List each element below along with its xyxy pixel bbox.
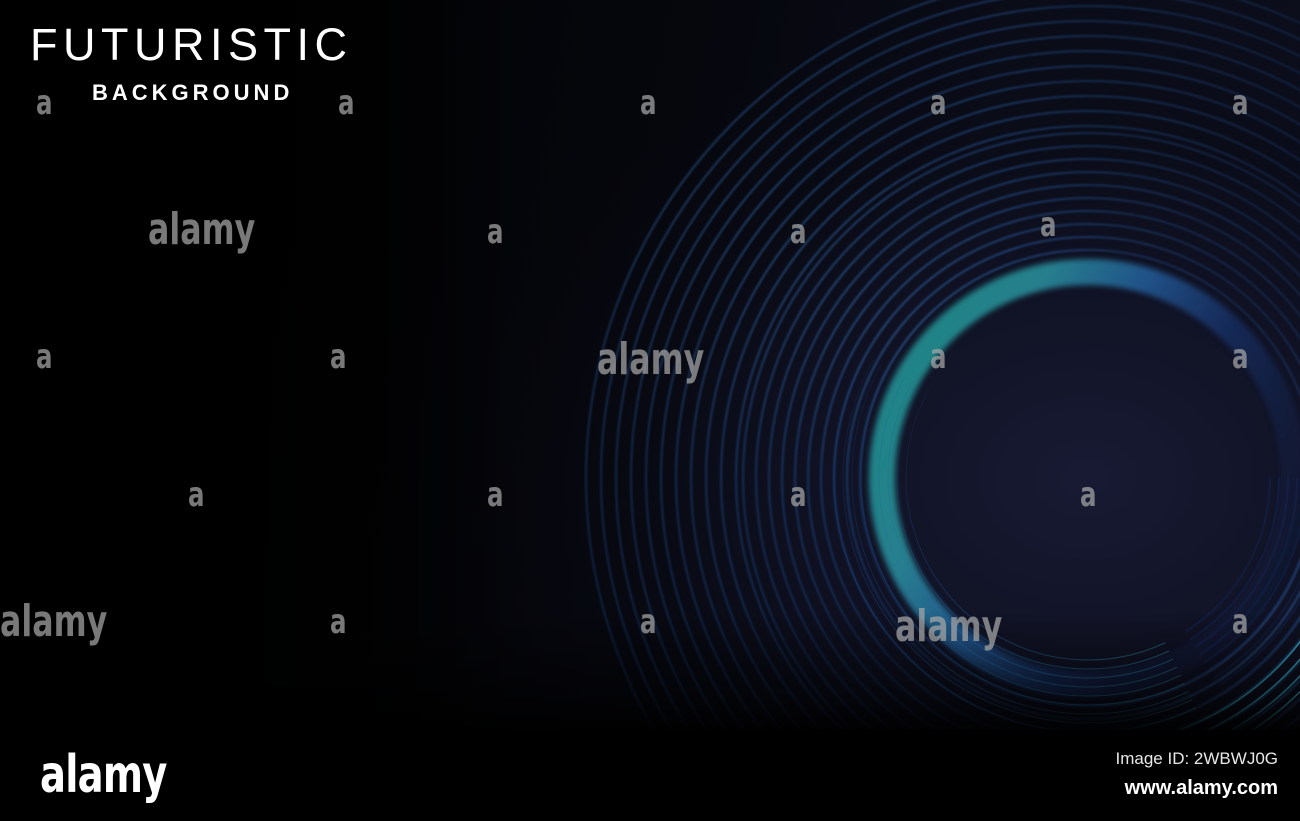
ring-arc [646,36,1300,730]
alamy-url: www.alamy.com [1125,778,1278,798]
ring-arc [906,296,1270,660]
ring-arc [897,287,1279,669]
stock-footer-bar: alamy Image ID: 2WBWJ0G www.alamy.com [0,730,1300,821]
ring-glow [882,272,1294,684]
concentric-rings-graphic [0,0,1300,730]
ring-arc [852,242,1300,714]
ring-arc [906,296,1270,660]
ring-arc [631,21,1300,730]
ring-arc [897,287,1279,669]
page-title: FUTURISTIC BACKGROUND [30,22,352,104]
alamy-logo: alamy [40,749,167,801]
title-secondary: BACKGROUND [92,82,352,104]
title-primary: FUTURISTIC [30,22,352,67]
ring-arc [843,233,1300,723]
ring-arc [847,237,1300,719]
image-id-label: Image ID: 2WBWJ0G [1116,750,1278,767]
artwork-canvas: FUTURISTIC BACKGROUND aaaaaalamyalamyaaa… [0,0,1300,730]
ring-arc [843,233,1300,723]
